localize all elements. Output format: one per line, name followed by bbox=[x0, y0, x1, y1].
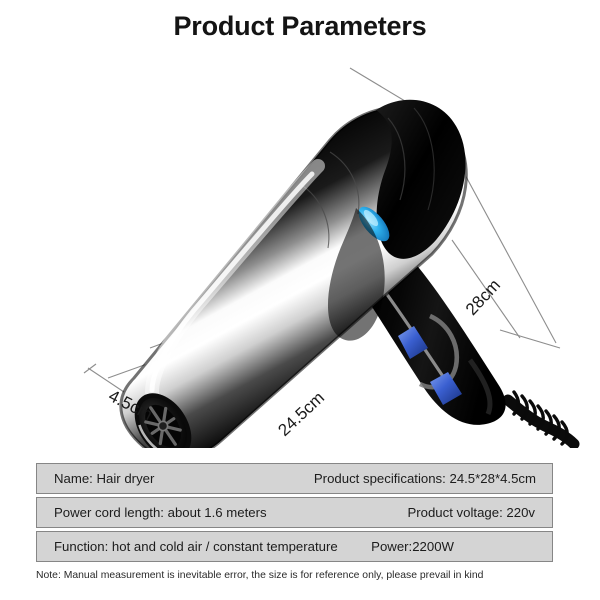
product-parameters-page: Product Parameters bbox=[0, 0, 600, 600]
product-image: 28cm 24.5cm 4.5cm bbox=[0, 48, 600, 448]
rear-cap bbox=[376, 100, 466, 259]
table-row: Name: Hair dryer Product specifications:… bbox=[36, 463, 553, 494]
page-title: Product Parameters bbox=[0, 11, 600, 42]
spec-name-label: Name: Hair dryer bbox=[37, 471, 154, 486]
dimension-label-24-5cm: 24.5cm bbox=[274, 388, 328, 440]
hair-dryer-illustration bbox=[121, 100, 574, 448]
table-row: Power cord length: about 1.6 meters Prod… bbox=[36, 497, 553, 528]
spec-power: Power:2200W bbox=[371, 539, 552, 554]
spec-table: Name: Hair dryer Product specifications:… bbox=[36, 463, 553, 565]
spec-voltage: Product voltage: 220v bbox=[407, 505, 552, 520]
power-cord bbox=[508, 392, 574, 444]
spec-cord-length: Power cord length: about 1.6 meters bbox=[37, 505, 267, 520]
spec-specifications: Product specifications: 24.5*28*4.5cm bbox=[314, 471, 552, 486]
table-note: Note: Manual measurement is inevitable e… bbox=[36, 570, 576, 581]
dimension-label-28cm: 28cm bbox=[462, 276, 504, 319]
table-row: Function: hot and cold air / constant te… bbox=[36, 531, 553, 562]
spec-function: Function: hot and cold air / constant te… bbox=[37, 539, 338, 554]
